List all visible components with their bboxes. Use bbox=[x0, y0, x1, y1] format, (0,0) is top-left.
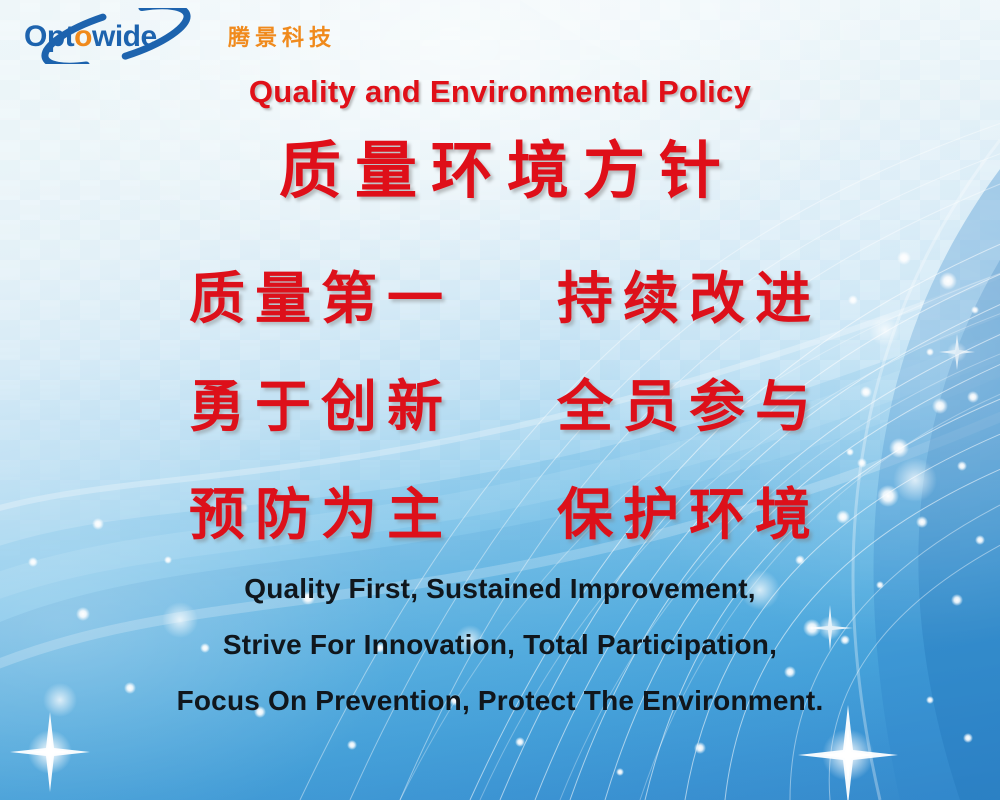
page-title-cn: 质量环境方针 bbox=[0, 120, 1000, 210]
slogan-strive-innovation: 勇于创新 bbox=[151, 362, 481, 443]
brand-name-cn: 腾景科技 bbox=[228, 20, 336, 52]
slogan-row: 预防为主 保护环境 bbox=[0, 456, 1000, 564]
slogan-total-participation: 全员参与 bbox=[519, 362, 849, 443]
english-policy-line: Focus On Prevention, Protect The Environ… bbox=[0, 687, 1000, 715]
brand-word-opt: Opt bbox=[24, 20, 74, 53]
slogan-protect-environment: 保护环境 bbox=[519, 470, 849, 551]
slogan-row: 质量第一 持续改进 bbox=[0, 240, 1000, 348]
english-policy-block: Quality First, Sustained Improvement, St… bbox=[0, 575, 1000, 743]
slogan-grid: 质量第一 持续改进 勇于创新 全员参与 预防为主 保护环境 bbox=[0, 240, 1000, 564]
slogan-sustained-improvement: 持续改进 bbox=[519, 254, 849, 335]
brand-logo: Optowide 腾景科技 bbox=[18, 8, 336, 64]
optowide-logo-mark: Optowide bbox=[18, 8, 214, 64]
english-policy-line: Quality First, Sustained Improvement, bbox=[0, 575, 1000, 603]
brand-word-wide: wide bbox=[92, 20, 157, 53]
slogan-focus-prevention: 预防为主 bbox=[151, 470, 481, 551]
page-title-en: Quality and Environmental Policy bbox=[0, 74, 1000, 110]
brand-word-o-dot: o bbox=[74, 20, 92, 53]
english-policy-line: Strive For Innovation, Total Participati… bbox=[0, 631, 1000, 659]
heading-block: Quality and Environmental Policy 质量环境方针 bbox=[0, 74, 1000, 210]
slogan-row: 勇于创新 全员参与 bbox=[0, 348, 1000, 456]
brand-wordmark: Optowide bbox=[24, 20, 157, 54]
policy-poster: Optowide 腾景科技 Quality and Environmental … bbox=[0, 0, 1000, 800]
slogan-quality-first: 质量第一 bbox=[151, 254, 481, 335]
